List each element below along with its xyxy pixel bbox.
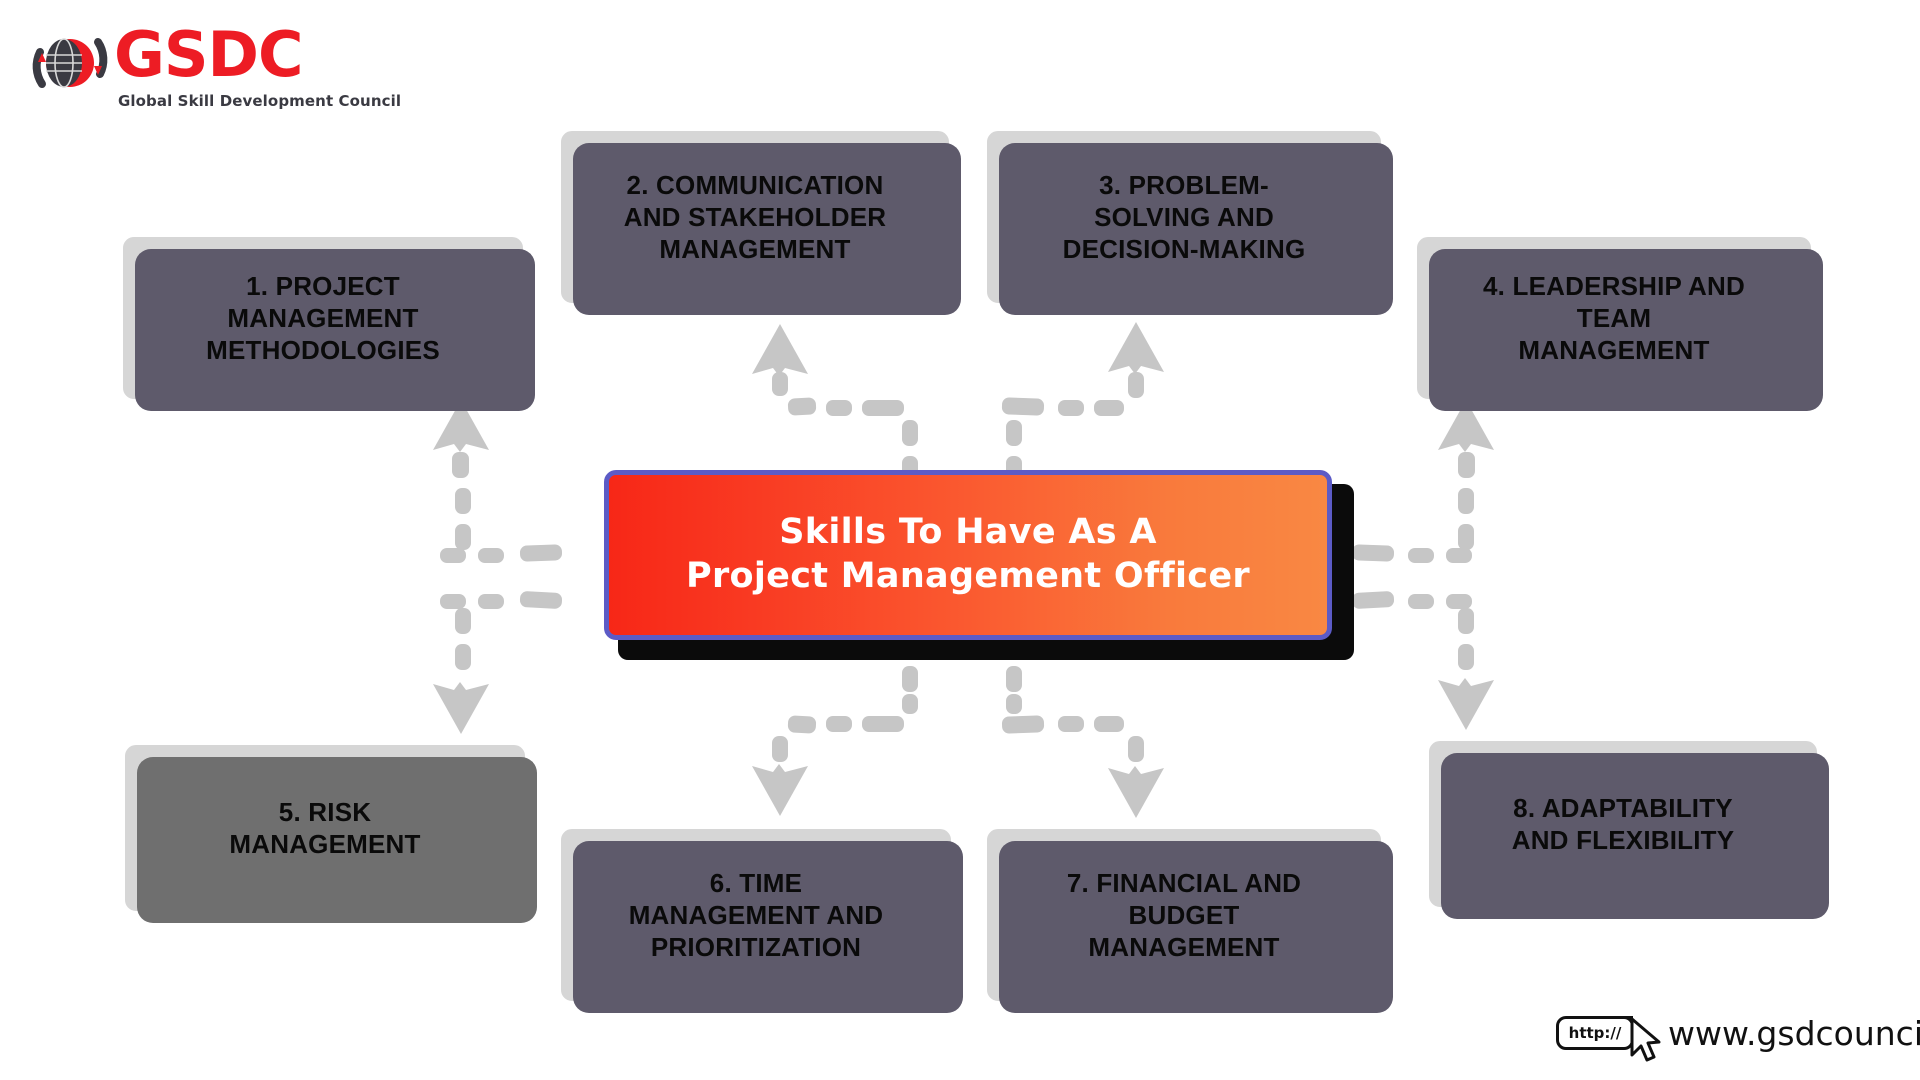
connector-to-card-8 [1352, 591, 1494, 730]
skill-card-1-label: 1. PROJECT MANAGEMENT METHODOLOGIES [206, 270, 440, 367]
connector-to-card-5 [433, 591, 562, 734]
skill-card-2[interactable]: 2. COMMUNICATION AND STAKEHOLDER MANAGEM… [556, 126, 954, 308]
connector-to-card-4 [1352, 400, 1494, 563]
gsdc-logo: GSDC Global Skill Development Council [22, 14, 342, 118]
skill-card-6[interactable]: 6. TIME MANAGEMENT AND PRIORITIZATION [556, 824, 956, 1006]
center-title-card: Skills To Have As A Project Management O… [604, 470, 1344, 650]
skill-card-4-label: 4. LEADERSHIP AND TEAM MANAGEMENT [1483, 270, 1745, 367]
connector-to-card-6 [752, 666, 918, 816]
center-title-line-2: Project Management Officer [686, 555, 1250, 599]
connector-to-card-1 [433, 400, 562, 563]
skill-card-3-label: 3. PROBLEM- SOLVING AND DECISION-MAKING [1063, 169, 1306, 266]
logo-wordmark: GSDC [114, 24, 303, 86]
skill-card-8[interactable]: 8. ADAPTABILITY AND FLEXIBILITY [1424, 736, 1822, 912]
skill-card-8-label: 8. ADAPTABILITY AND FLEXIBILITY [1512, 792, 1735, 856]
connector-to-card-2 [752, 324, 918, 480]
skill-card-7-label: 7. FINANCIAL AND BUDGET MANAGEMENT [1067, 867, 1301, 964]
skill-card-5-label: 5. RISK MANAGEMENT [229, 796, 420, 860]
infographic-canvas: GSDC Global Skill Development Council [0, 0, 1920, 1080]
website-footer: http:// www.gsdcouncil.org [1556, 1005, 1920, 1061]
mouse-pointer-icon [1628, 1017, 1662, 1063]
skill-card-4[interactable]: 4. LEADERSHIP AND TEAM MANAGEMENT [1412, 232, 1816, 404]
center-card-body: Skills To Have As A Project Management O… [604, 470, 1332, 640]
address-bar-label: http:// [1569, 1024, 1622, 1042]
skill-card-2-label: 2. COMMUNICATION AND STAKEHOLDER MANAGEM… [624, 169, 887, 266]
center-title-line-1: Skills To Have As A [779, 511, 1157, 555]
skill-card-6-label: 6. TIME MANAGEMENT AND PRIORITIZATION [629, 867, 884, 964]
skill-card-5[interactable]: 5. RISK MANAGEMENT [120, 740, 530, 916]
skill-card-7[interactable]: 7. FINANCIAL AND BUDGET MANAGEMENT [982, 824, 1386, 1006]
globe-logo-icon [28, 22, 112, 106]
address-bar-icon: http:// [1556, 1016, 1634, 1050]
logo-tagline: Global Skill Development Council [118, 92, 401, 110]
website-url: www.gsdcouncil.org [1668, 1014, 1920, 1053]
connector-to-card-7 [1002, 666, 1164, 818]
skill-card-3[interactable]: 3. PROBLEM- SOLVING AND DECISION-MAKING [982, 126, 1386, 308]
connector-to-card-3 [1002, 322, 1164, 480]
skill-card-1[interactable]: 1. PROJECT MANAGEMENT METHODOLOGIES [118, 232, 528, 404]
